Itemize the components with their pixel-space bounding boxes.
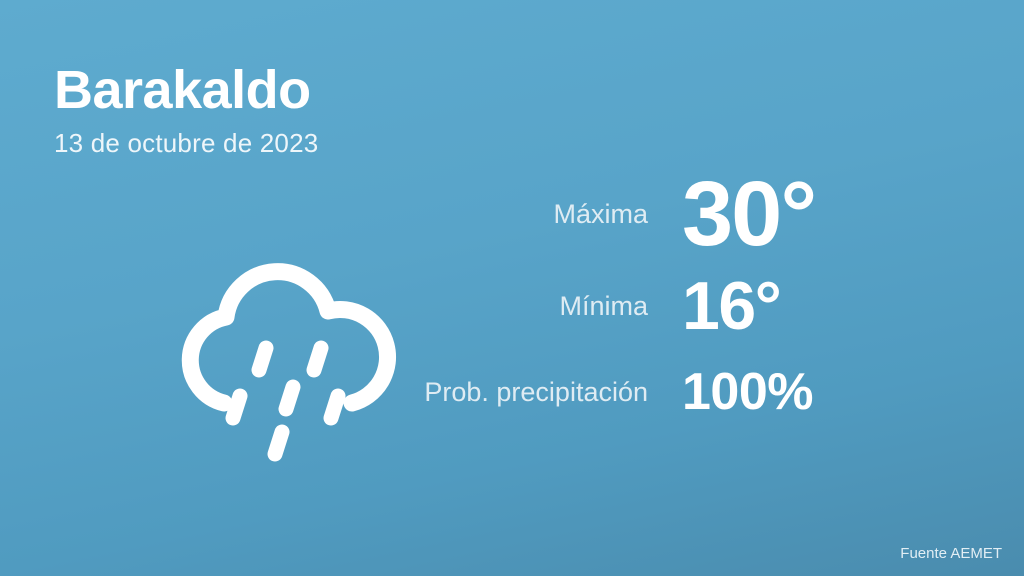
stat-label-minima: Mínima (400, 291, 682, 322)
stat-label-maxima: Máxima (400, 199, 682, 230)
source-attribution: Fuente AEMET (900, 545, 1002, 562)
weather-stats: Máxima 30° Mínima 16° Prob. precipitació… (400, 168, 960, 432)
stat-row-precipitacion: Prob. precipitación 100% (400, 352, 960, 432)
stat-label-precipitacion: Prob. precipitación (400, 377, 682, 408)
forecast-date: 13 de octubre de 2023 (54, 128, 318, 159)
rain-cloud-icon (178, 248, 398, 478)
stat-value-minima: 16° (682, 272, 780, 340)
city-name: Barakaldo (54, 62, 318, 119)
stat-row-minima: Mínima 16° (400, 260, 960, 352)
stat-row-maxima: Máxima 30° (400, 168, 960, 260)
card-header: Barakaldo 13 de octubre de 2023 (54, 62, 318, 159)
stat-value-precipitacion: 100% (682, 366, 813, 418)
weather-card: Barakaldo 13 de octubre de 2023 Máxima 3… (0, 0, 1024, 576)
stat-value-maxima: 30° (682, 168, 815, 260)
